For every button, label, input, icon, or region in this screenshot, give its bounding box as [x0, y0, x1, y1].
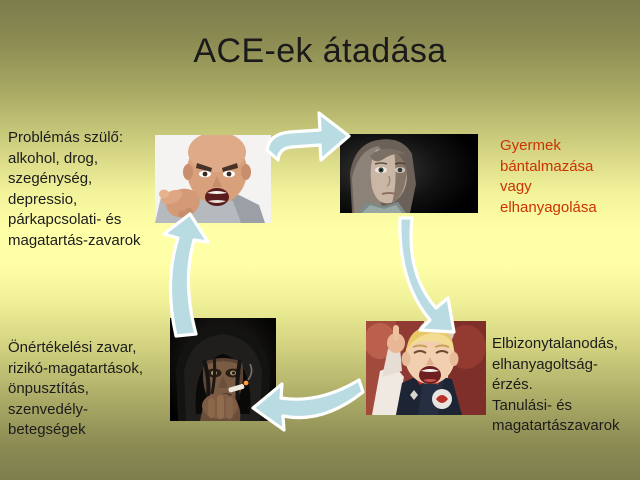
photo-sad-child: [340, 134, 478, 213]
curved-arrow-left-icon[interactable]: [247, 378, 367, 440]
curved-arrow-right-up-icon[interactable]: [262, 108, 354, 180]
photo-angry-parent: [155, 135, 271, 223]
text-self-esteem: Önértékelési zavar, rizikó-magatartások,…: [8, 338, 160, 441]
text-effects: Elbizonytalanodás, elhanyagoltság- érzés…: [492, 334, 640, 437]
slide-canvas: ACE-ek átadása: [0, 0, 640, 480]
text-problem-parent: Problémás szülő: alkohol, drog, szegénys…: [8, 128, 158, 251]
curved-arrow-up-icon[interactable]: [152, 212, 236, 340]
text-child-abuse: Gyermek bántalmazása vagy elhanyagolása: [500, 136, 640, 218]
page-title: ACE-ek átadása: [0, 32, 640, 71]
curved-arrow-down-icon[interactable]: [394, 212, 490, 338]
